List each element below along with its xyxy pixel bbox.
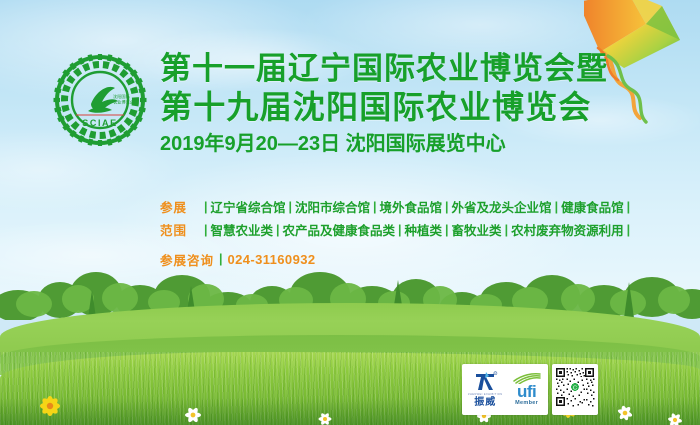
white-daisy-icon (660, 410, 690, 425)
scope-item[interactable]: 外省及龙头企业馆 (452, 197, 552, 216)
scope-label-1: 参展 (160, 197, 198, 216)
zhenwei-cn-label: 振威 (474, 397, 496, 408)
scope-separator: | (370, 200, 380, 214)
partner-badges: R ZHENWEI EXHIBITION 振威 ufi Member (462, 364, 598, 415)
scope-separator: | (273, 223, 283, 237)
scope-separator: | (395, 223, 405, 237)
scope-items-1: | 辽宁省综合馆 | 沈阳市综合馆 | 境外食品馆 | 外省及龙头企业馆 | 健… (198, 197, 633, 216)
scope-separator: | (502, 223, 512, 237)
title-block: 第十一届辽宁国际农业博览会暨 第十九届沈阳国际农业博览会 2019年9月20—2… (160, 50, 630, 156)
scope-separator: | (198, 223, 211, 237)
qr-code[interactable]: C (552, 364, 598, 415)
white-daisy-icon (610, 402, 640, 424)
scope-item[interactable]: 健康食品馆 (561, 197, 624, 216)
yellow-flower-icon (28, 388, 72, 425)
expo-banner: 沈阳国际 农业博览会 SCIAE 第十一届辽宁国际农业博览会暨 第十九届沈阳国际… (0, 0, 700, 425)
title-line-1: 第十一届辽宁国际农业博览会暨 (160, 50, 630, 88)
scope-item[interactable]: 种植类 (405, 220, 443, 239)
scope-separator: | (552, 200, 562, 214)
qr-code-icon: C (555, 367, 595, 407)
ufi-wordmark: ufi (517, 384, 536, 400)
scope-item[interactable]: 畜牧业类 (452, 220, 502, 239)
title-line-2: 第十九届沈阳国际农业博览会 (160, 88, 630, 126)
scope-item[interactable]: 农产品及健康食品类 (283, 220, 396, 239)
ufi-member-label: Member (515, 400, 538, 407)
expo-logo: 沈阳国际 农业博览会 SCIAE (38, 54, 162, 146)
zhenwei-logo: R ZHENWEI EXHIBITION 振威 (468, 371, 503, 408)
logo-cn-bottom: 农业博览会 (113, 99, 135, 106)
scope-item[interactable]: 沈阳市综合馆 (295, 197, 370, 216)
scope-block: 参展 | 辽宁省综合馆 | 沈阳市综合馆 | 境外食品馆 | 外省及龙头企业馆 … (160, 195, 640, 241)
scope-item[interactable]: 农村废弃物资源利用 (511, 220, 624, 239)
contact-label: 参展咨询 (160, 250, 214, 269)
scope-separator: | (624, 200, 634, 214)
contact-separator: | (214, 252, 228, 266)
date-venue-line: 2019年9月20—23日 沈阳国际展览中心 (160, 132, 630, 156)
scope-separator: | (442, 223, 452, 237)
scope-separator: | (286, 200, 296, 214)
scope-item[interactable]: 智慧农业类 (211, 220, 274, 239)
scope-item[interactable]: 境外食品馆 (380, 197, 443, 216)
scope-separator: | (198, 200, 211, 214)
scope-item[interactable]: 辽宁省综合馆 (211, 197, 286, 216)
scope-row-categories: 范围 | 智慧农业类 | 农产品及健康食品类 | 种植类 | 畜牧业类 | 农村… (160, 218, 640, 241)
ufi-logo: ufi Member (512, 372, 542, 407)
zhenwei-mark-icon: R (473, 371, 498, 393)
logo-acronym: SCIAE (82, 118, 118, 128)
white-daisy-icon (178, 404, 208, 425)
white-daisy-icon (312, 410, 338, 425)
contact-phone[interactable]: 024-31160932 (228, 252, 316, 267)
zhenwei-ufi-badge: R ZHENWEI EXHIBITION 振威 ufi Member (462, 364, 548, 415)
svg-text:C: C (572, 385, 576, 391)
scope-separator: | (624, 223, 634, 237)
scope-separator: | (442, 200, 452, 214)
scope-items-2: | 智慧农业类 | 农产品及健康食品类 | 种植类 | 畜牧业类 | 农村废弃物… (198, 220, 633, 239)
scope-label-2: 范围 (160, 220, 198, 239)
contact-line: 参展咨询 | 024-31160932 (160, 249, 315, 269)
scope-row-exhibit: 参展 | 辽宁省综合馆 | 沈阳市综合馆 | 境外食品馆 | 外省及龙头企业馆 … (160, 195, 640, 218)
